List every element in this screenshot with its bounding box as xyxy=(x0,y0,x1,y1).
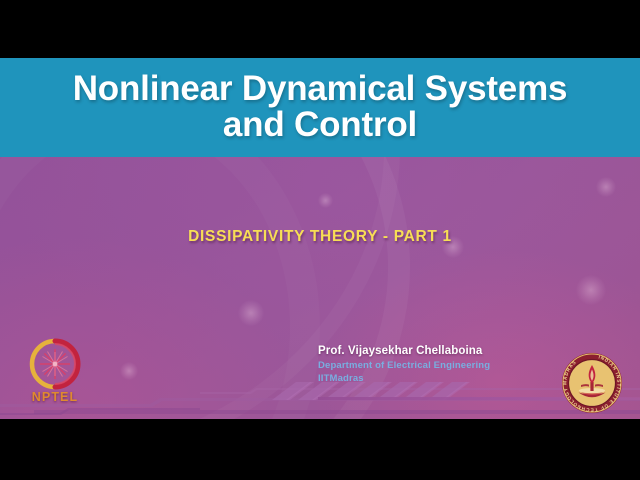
nptel-starburst-ring-icon xyxy=(29,338,81,390)
letterbox-top-bar xyxy=(0,0,640,58)
iit-madras-seal-icon: INDIAN INSTITUTE OF TECHNOLOGY MADRAS xyxy=(561,352,623,414)
course-title-banner: Nonlinear Dynamical Systems and Control xyxy=(0,58,640,157)
bokeh-light-spot xyxy=(596,177,616,197)
bokeh-light-spot xyxy=(576,275,606,305)
bokeh-light-spot xyxy=(120,362,138,380)
lecture-subtitle-text: DISSIPATIVITY THEORY - PART 1 xyxy=(188,228,452,245)
presenter-institute: IITMadras xyxy=(318,373,490,384)
nptel-wordmark: NPTEL xyxy=(17,390,93,404)
lecture-subtitle: DISSIPATIVITY THEORY - PART 1 xyxy=(0,228,640,246)
video-slide: DISSIPATIVITY THEORY - PART 1 Prof. Vija… xyxy=(0,0,640,480)
presenter-info: Prof. Vijaysekhar Chellaboina Department… xyxy=(318,345,490,384)
presenter-name: Prof. Vijaysekhar Chellaboina xyxy=(318,345,490,357)
course-title: Nonlinear Dynamical Systems and Control xyxy=(73,71,568,144)
letterbox-bottom-bar xyxy=(0,419,640,480)
bokeh-light-spot xyxy=(318,193,333,208)
bokeh-light-spot xyxy=(238,300,264,326)
presenter-department: Department of Electrical Engineering xyxy=(318,360,490,371)
nptel-logo: NPTEL xyxy=(17,338,93,414)
